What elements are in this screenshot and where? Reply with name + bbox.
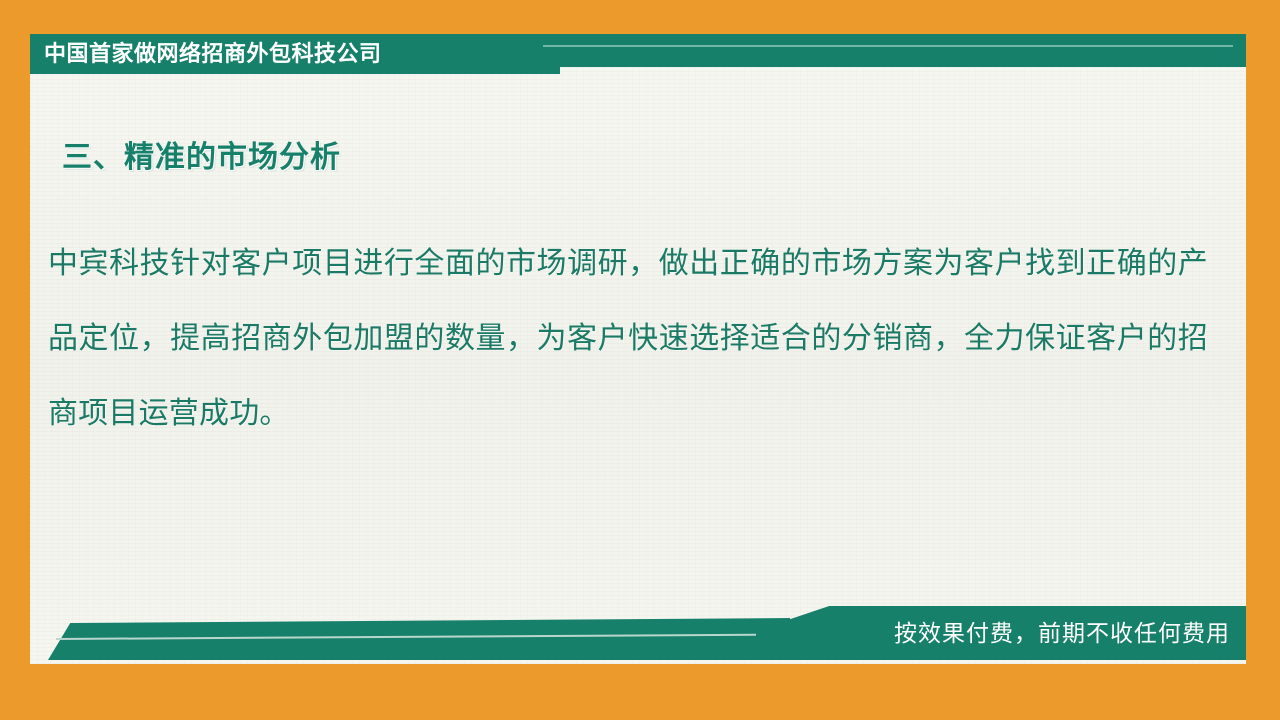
slide-root: 中国首家做网络招商外包科技公司 三、精准的市场分析 中宾科技针对客户项目进行全面… bbox=[0, 0, 1280, 720]
header-band-right-block bbox=[543, 34, 1246, 67]
header-band-hairline bbox=[543, 45, 1233, 47]
slide-canvas: 中国首家做网络招商外包科技公司 三、精准的市场分析 中宾科技针对客户项目进行全面… bbox=[30, 34, 1246, 664]
body-paragraph-container: 中宾科技针对客户项目进行全面的市场调研，做出正确的市场方案为客户找到正确的产品定… bbox=[48, 226, 1208, 451]
footer-band: 按效果付费，前期不收任何费用 bbox=[30, 600, 1246, 664]
header-title: 中国首家做网络招商外包科技公司 bbox=[44, 34, 382, 74]
footer-slogan: 按效果付费，前期不收任何费用 bbox=[894, 606, 1230, 660]
section-heading: 三、精准的市场分析 bbox=[62, 132, 341, 176]
header-band: 中国首家做网络招商外包科技公司 bbox=[30, 34, 1246, 74]
body-paragraph: 中宾科技针对客户项目进行全面的市场调研，做出正确的市场方案为客户找到正确的产品定… bbox=[48, 226, 1208, 451]
